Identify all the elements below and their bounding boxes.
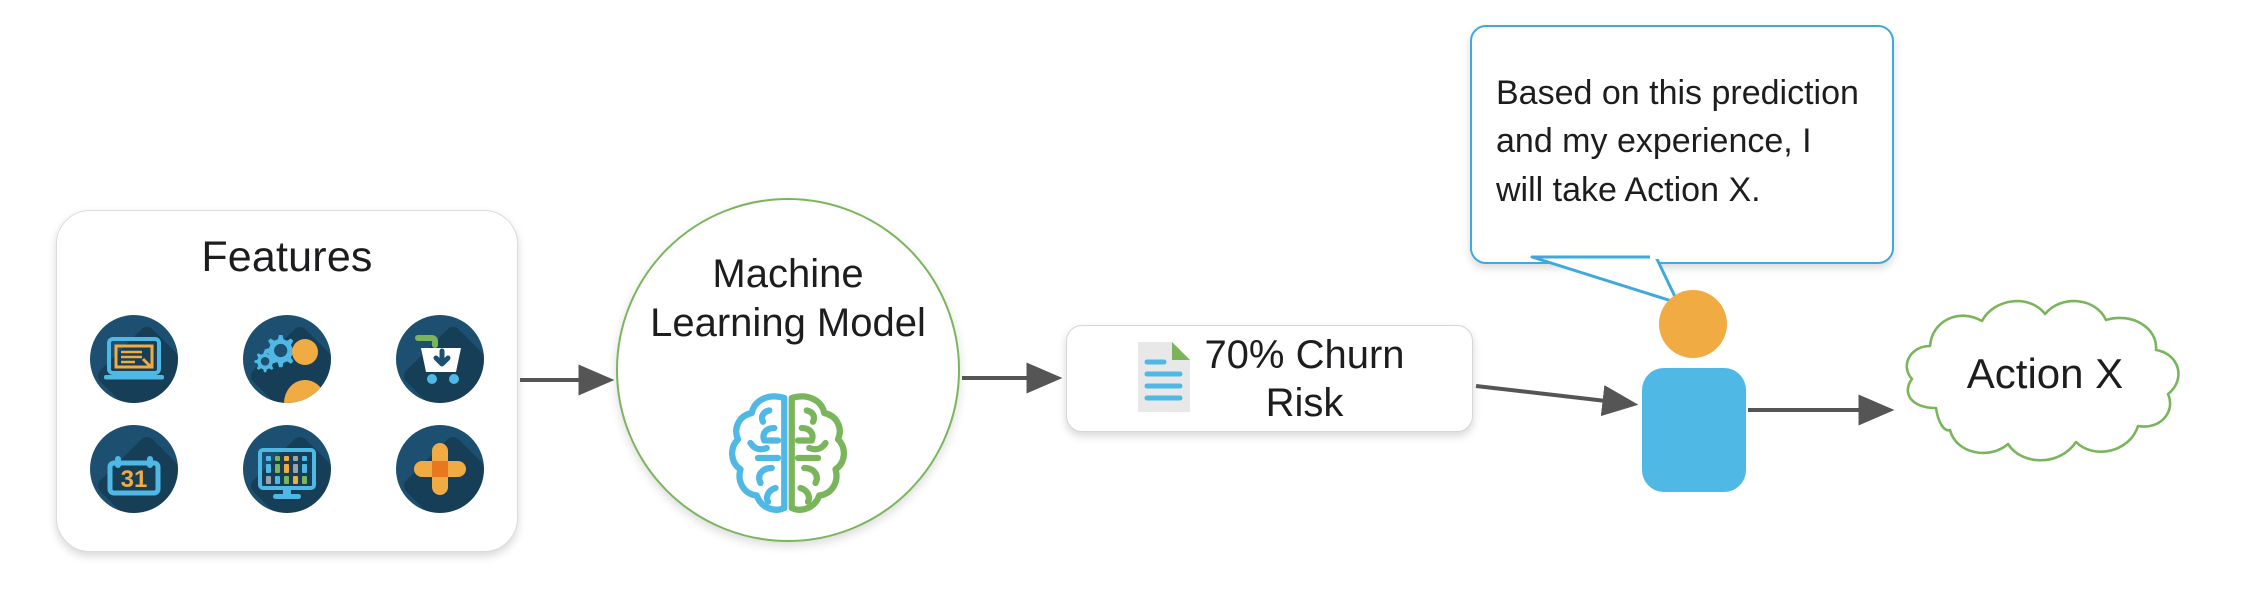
person-head-icon (1659, 290, 1727, 358)
prediction-box: 70% Churn Risk (1066, 325, 1473, 432)
action-label: Action X (1880, 350, 2210, 398)
prediction-text: 70% Churn Risk (1204, 331, 1404, 427)
speech-bubble-text: Based on this prediction and my experien… (1496, 69, 1872, 214)
model-label: Machine Learning Model (618, 250, 958, 348)
arrow-prediction-to-person (1476, 386, 1632, 404)
calendar-day-text: 31 (120, 466, 147, 493)
laptop-report-icon (90, 315, 178, 403)
speech-bubble: Based on this prediction and my experien… (1470, 25, 1894, 264)
shopping-cart-icon (396, 315, 484, 403)
person-body-icon (1642, 368, 1746, 492)
calendar-icon: 31 (90, 425, 178, 513)
plus-cross-icon (396, 425, 484, 513)
brain-icon (713, 378, 863, 528)
diagram-canvas: Features (0, 0, 2242, 610)
dashboard-monitor-icon (243, 425, 331, 513)
document-icon (1134, 340, 1194, 414)
feature-icon-grid: 31 (57, 315, 517, 513)
settings-user-icon (243, 315, 331, 403)
machine-learning-model-node: Machine Learning Model (616, 198, 960, 542)
features-title: Features (57, 233, 517, 282)
features-card: Features (56, 210, 518, 552)
